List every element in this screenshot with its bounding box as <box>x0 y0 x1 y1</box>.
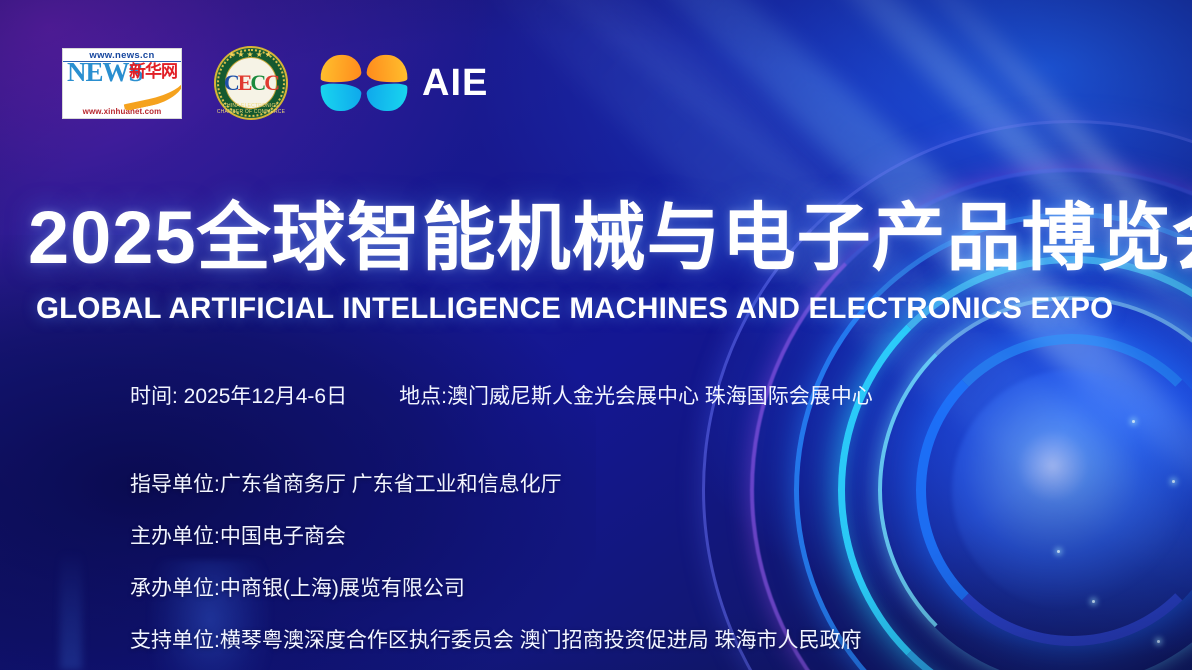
cecc-seal-logo: ★★★★★ C E C C CHINA ELECTRONICS CHAMBER … <box>214 46 288 120</box>
event-meta-row: 时间: 2025年12月4-6日 地点:澳门威尼斯人金光会展中心 珠海国际会展中… <box>130 380 873 410</box>
aie-wing <box>319 83 362 113</box>
organizer-line: 主办单位:中国电子商会 <box>130 520 862 550</box>
aie-wing <box>319 54 362 84</box>
organizer-line: 承办单位:中商银(上海)展览有限公司 <box>130 572 862 602</box>
organizer-list: 指导单位:广东省商务厅 广东省工业和信息化厅 主办单位:中国电子商会 承办单位:… <box>130 468 862 654</box>
cecc-inner-disc: C E C C <box>226 58 276 108</box>
logo-row: www.news.cn NEWS 新华网 www.xinhuanet.com ★… <box>62 46 488 120</box>
aie-logo: AIE <box>320 53 488 113</box>
xinhua-mark: NEWS 新华网 <box>63 62 181 107</box>
expo-poster: www.news.cn NEWS 新华网 www.xinhuanet.com ★… <box>0 0 1192 670</box>
page-title: 2025全球智能机械与电子产品博览会 <box>28 196 1178 280</box>
page-subtitle: GLOBAL ARTIFICIAL INTELLIGENCE MACHINES … <box>36 292 1176 326</box>
aie-wing <box>366 54 409 84</box>
cecc-letter: C <box>264 72 278 94</box>
organizer-line: 支持单位:横琴粤澳深度合作区执行委员会 澳门招商投资促进局 珠海市人民政府 <box>130 624 862 654</box>
aie-butterfly-icon <box>320 53 408 113</box>
aie-wing <box>366 83 409 113</box>
xinhua-net-logo: www.news.cn NEWS 新华网 www.xinhuanet.com <box>62 48 182 119</box>
aie-wordmark: AIE <box>422 62 488 105</box>
event-venue: 地点:澳门威尼斯人金光会展中心 珠海国际会展中心 <box>399 380 873 410</box>
cecc-ring-text: CHINA ELECTRONICS CHAMBER OF COMMERCE <box>214 103 288 115</box>
cecc-letter: C <box>250 72 264 94</box>
cecc-letter: E <box>238 72 251 94</box>
organizer-line: 指导单位:广东省商务厅 广东省工业和信息化厅 <box>130 468 862 498</box>
event-date: 时间: 2025年12月4-6日 <box>130 380 347 410</box>
xinhua-bottom-url: www.xinhuanet.com <box>63 107 181 118</box>
cecc-letter: C <box>224 72 238 94</box>
